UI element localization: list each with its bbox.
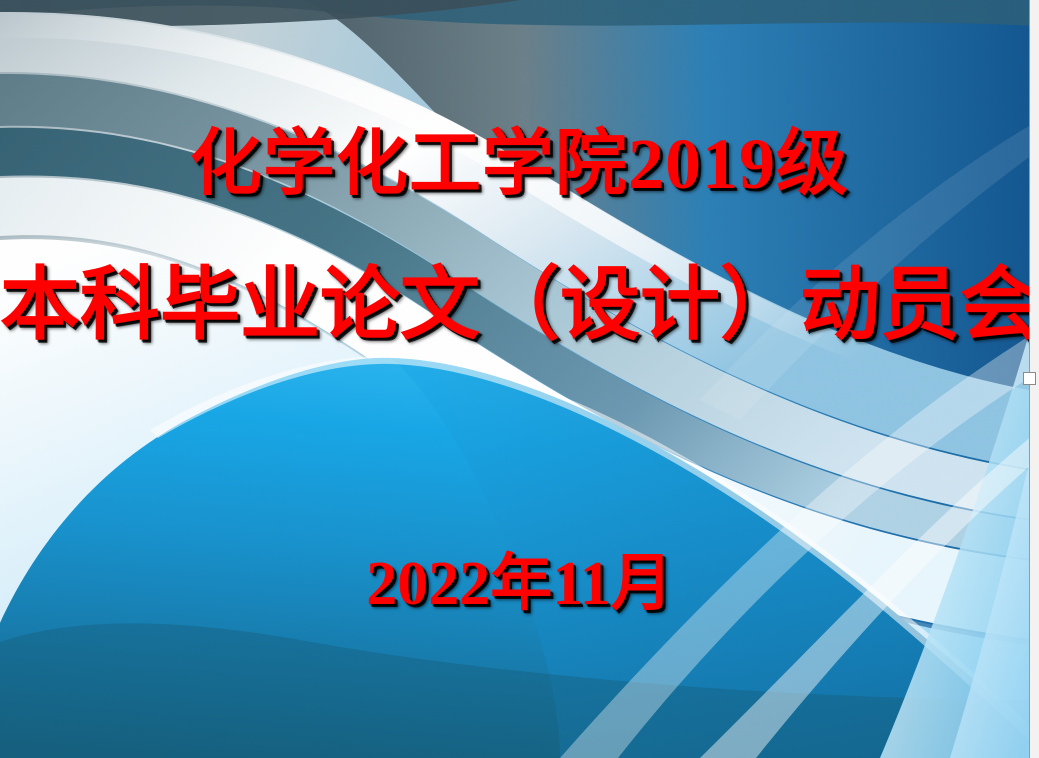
resize-handle[interactable] [1023,372,1036,385]
slide-title-line-2: 本科毕业论文（设计）动员会 [0,266,1039,346]
slide-title-line-1: 化学化工学院2019级 [0,128,1039,200]
slide-date-line: 2022年11月 [0,553,1039,615]
presentation-slide: 化学化工学院2019级 本科毕业论文（设计）动员会 2022年11月 [0,0,1039,758]
slide-text-layer: 化学化工学院2019级 本科毕业论文（设计）动员会 2022年11月 [0,0,1039,758]
